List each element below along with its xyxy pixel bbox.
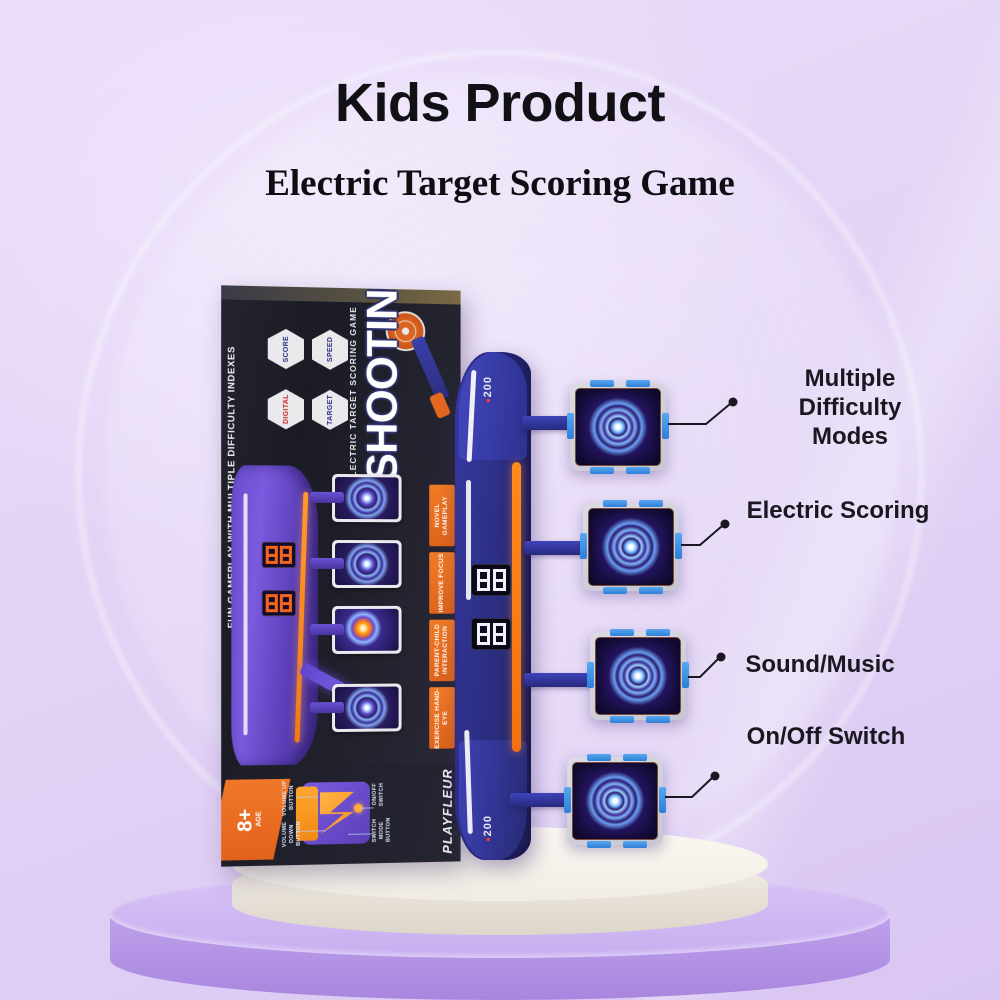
callout-label-multiple-difficulty-modes: MultipleDifficultyModes — [752, 364, 948, 451]
page-subtitle: Electric Target Scoring Game — [0, 162, 1000, 205]
target-panel — [590, 632, 686, 720]
feature-badge-label: DIGITAL — [282, 394, 289, 424]
benefit-tab: NOVEL GAMEPLAY — [429, 485, 455, 547]
age-badge-value: 8+ — [236, 808, 254, 831]
control-label-switch-mode: SWITCH MODE BUTTON — [372, 811, 393, 849]
benefit-tab-label: PARENT-CHILD INTERACTION — [434, 620, 450, 682]
target-arm — [524, 541, 588, 555]
brand-name: PLAYFLEUR — [440, 768, 455, 854]
page-title: Kids Product — [0, 72, 1000, 134]
target-face — [595, 637, 681, 715]
box-target — [332, 684, 402, 733]
age-badge-label: AGE — [256, 812, 263, 827]
box-blaster-highlight — [243, 493, 247, 735]
unit-badge-bottom: •200 — [481, 815, 495, 842]
box-target-hit — [332, 606, 402, 654]
product-box: FUN GAMEPLAY WITH MULTIPLE DIFFICULTY IN… — [221, 285, 460, 866]
feature-badge-speed: SPEED — [312, 329, 348, 370]
benefit-tab-label: NOVEL GAMEPLAY — [434, 485, 450, 547]
callout-label-sound-music: Sound/Music — [722, 650, 918, 679]
benefit-tab: IMPROVE FOCUS — [429, 552, 455, 614]
feature-badge-score: SCORE — [268, 329, 304, 370]
box-artwork-blaster — [231, 465, 318, 768]
led-display-top — [471, 564, 511, 596]
box-benefit-tabs: NOVEL GAMEPLAY IMPROVE FOCUS PARENT-CHIL… — [429, 485, 455, 751]
target-arm — [510, 793, 572, 807]
target-face — [572, 762, 658, 840]
box-blaster-orange-stripe — [295, 492, 309, 743]
unit-orange-accent — [512, 462, 521, 752]
feature-badge-label: SPEED — [327, 337, 334, 362]
box-logo: SHOOTING — [360, 302, 455, 482]
callout-label-on-off-switch: On/Off Switch — [716, 722, 936, 751]
benefit-tab-label: IMPROVE FOCUS — [438, 553, 446, 612]
box-led-display-bottom — [262, 590, 296, 616]
feature-badge-target: TARGET — [312, 390, 348, 431]
control-label-volume-down: VOLUME DOWN BUTTON — [282, 817, 303, 852]
callout-label-electric-scoring: Electric Scoring — [726, 496, 950, 525]
box-target — [332, 540, 402, 588]
feature-badge-digital: DIGITAL — [268, 389, 304, 430]
box-controls-diagram: VOLUME UP BUTTON VOLUME DOWN BUTTON ON/O… — [278, 775, 388, 851]
target-panel — [583, 503, 679, 591]
feature-badge-label: SCORE — [282, 336, 289, 363]
unit-badge-top: •200 — [481, 376, 495, 403]
control-label-on-off: ON/OFF SWITCH — [372, 777, 386, 811]
target-panel — [567, 757, 663, 845]
control-label-volume-up: VOLUME UP BUTTON — [282, 779, 296, 817]
benefit-tab: PARENT-CHILD INTERACTION — [429, 620, 455, 682]
scoring-base-unit: •200 •200 — [455, 352, 531, 860]
led-display-bottom — [471, 618, 511, 650]
target-face — [575, 388, 661, 466]
box-artwork-targets — [314, 474, 413, 775]
target-panel — [570, 383, 666, 471]
target-face — [588, 508, 674, 586]
target-arm — [524, 673, 596, 687]
box-target — [332, 474, 402, 522]
benefit-tab-label: EXERCISE HAND-EYE — [434, 687, 450, 749]
box-bottom-panel: 8+ AGE VOLUME UP BUTTON VOLUME DOWN BUTT… — [221, 762, 460, 866]
box-led-display-top — [262, 542, 296, 568]
benefit-tab: EXERCISE HAND-EYE — [429, 687, 455, 749]
box-feature-badges: SCORE SPEED DIGITAL TARGET — [268, 329, 350, 443]
feature-badge-label: TARGET — [327, 395, 334, 425]
